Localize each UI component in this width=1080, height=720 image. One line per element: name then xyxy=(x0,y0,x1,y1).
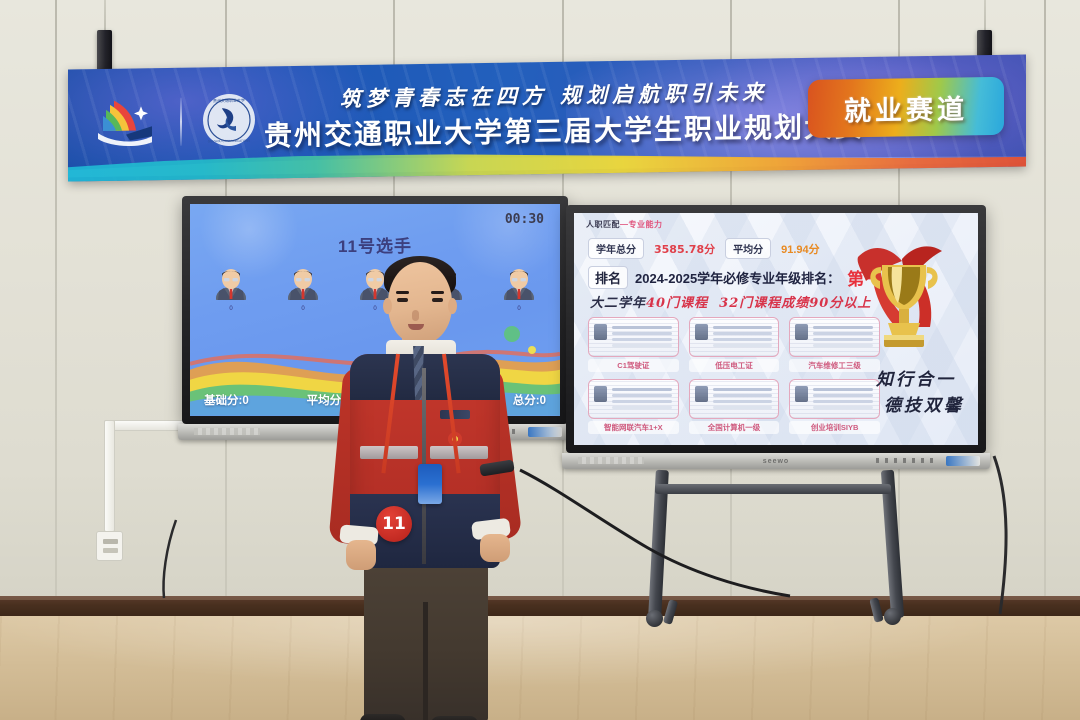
wall-seam xyxy=(55,0,57,600)
hand-right xyxy=(480,534,510,562)
cable-trunking-vertical xyxy=(104,420,115,532)
display-brand-right: seewo xyxy=(763,458,789,465)
certificate-thumbnail xyxy=(689,317,780,357)
baseboard-highlight xyxy=(0,596,1080,600)
svg-text:GUIZHOU COMMUNICATIONS: GUIZHOU COMMUNICATIONS xyxy=(208,139,250,144)
contestant-number-badge: 11 xyxy=(376,506,412,542)
floor-light-reflection xyxy=(0,616,1080,720)
year-total-value: 3585.78分 xyxy=(654,241,715,257)
courses-row: 大二学年40门课程 32门课程成绩90分以上 xyxy=(590,292,871,311)
shoe-left xyxy=(360,714,406,720)
wall-seam xyxy=(1044,0,1046,600)
track-badge: 就业赛道 xyxy=(808,77,1004,138)
right-display-screen[interactable]: 人职匹配—专业能力 学年总分 3585.78分 平均分 91.94分 排名 20… xyxy=(574,213,978,445)
shoe-right xyxy=(430,716,478,720)
right-display-chin: seewo xyxy=(562,453,990,469)
lanyard-id-card xyxy=(418,464,442,504)
certificate-label: 低压电工证 xyxy=(689,359,780,372)
contestant-title: 11号选手 xyxy=(190,232,560,257)
judge-score: 0 xyxy=(285,306,321,312)
countdown-timer: 00:30 xyxy=(505,212,544,227)
eye-left xyxy=(397,298,408,302)
stand-crossbar xyxy=(655,484,891,494)
track-badge-label: 就业赛道 xyxy=(844,87,968,128)
eye-right xyxy=(432,298,443,302)
certificate-card[interactable]: C1驾驶证 xyxy=(588,317,679,372)
certificate-card[interactable]: 创业培训SIYB xyxy=(789,379,880,434)
brand-logo-plate xyxy=(946,456,980,466)
judge-avatar[interactable]: 0 xyxy=(213,268,249,312)
eyebrow-left xyxy=(396,291,409,294)
ear-right xyxy=(448,298,457,314)
certificate-grid: C1驾驶证 低压电工证 汽车维修工三级 智能网联汽车1+X 全国计算机一级 xyxy=(588,317,880,434)
nose xyxy=(412,310,419,321)
certificate-label: 智能网联汽车1+X xyxy=(588,421,679,434)
rank-description: 2024-2025学年必修专业年级排名： xyxy=(635,268,840,287)
brand-logo-plate xyxy=(528,427,562,437)
certificate-card[interactable]: 低压电工证 xyxy=(689,317,780,372)
trouser-seam xyxy=(423,602,428,720)
certificate-label: 创业培训SIYB xyxy=(789,421,880,434)
led-indicators xyxy=(876,458,938,463)
wall-outlet[interactable] xyxy=(96,531,123,561)
courses-count: 40门课程 xyxy=(646,296,708,311)
judge-icon xyxy=(213,268,249,300)
calligraphy-motto: 知行合一 德技双馨 xyxy=(876,368,964,419)
port-strip xyxy=(194,428,260,435)
certificate-label: C1驾驶证 xyxy=(588,359,679,372)
hand-left xyxy=(346,540,376,570)
ear-left xyxy=(383,298,392,314)
stand-caster-right xyxy=(884,608,901,625)
logo-divider xyxy=(180,98,182,146)
certificate-card[interactable]: 全国计算机一级 xyxy=(689,379,780,434)
reflective-stripe-right xyxy=(430,446,488,459)
certificate-label: 全国计算机一级 xyxy=(689,421,780,434)
contestant-number: 11 xyxy=(382,514,406,534)
average-value: 91.94分 xyxy=(781,241,820,257)
gold-trophy-icon xyxy=(852,231,956,361)
year-total-label: 学年总分 xyxy=(588,238,644,259)
slide-header: 人职匹配—专业能力 xyxy=(586,219,663,230)
judge-icon xyxy=(285,268,321,300)
right-display-panel: 人职匹配—专业能力 学年总分 3585.78分 平均分 91.94分 排名 20… xyxy=(566,205,986,453)
certificate-thumbnail xyxy=(689,379,780,419)
calligraphy-line-1: 知行合一 xyxy=(876,368,964,394)
reflective-stripe-left xyxy=(360,446,418,459)
face xyxy=(388,262,452,344)
certificate-card[interactable]: 智能网联汽车1+X xyxy=(588,379,679,434)
jacket-brand-tag xyxy=(440,410,470,419)
calligraphy-line-2: 德技双馨 xyxy=(876,394,964,420)
base-score: 基础分:0 xyxy=(204,395,249,407)
certificate-thumbnail xyxy=(588,317,679,357)
svg-text:贵州交通职业大学: 贵州交通职业大学 xyxy=(213,97,245,104)
slide-header-pink: 专业能力 xyxy=(629,220,663,229)
university-seal-icon: 贵州交通职业大学 GUIZHOU COMMUNICATIONS xyxy=(202,93,256,148)
slide-header-dash: — xyxy=(620,220,629,229)
average-label: 平均分 xyxy=(725,238,771,259)
competition-banner: 贵州交通职业大学 GUIZHOU COMMUNICATIONS 筑梦青春志在四方… xyxy=(68,54,1026,181)
courses-pass: 32门课程成绩90分以上 xyxy=(719,296,871,311)
sail-emblem-icon xyxy=(96,96,154,149)
decor-dot-yellow xyxy=(528,346,536,354)
eyebrow-right xyxy=(431,291,444,294)
slide-header-dark: 人职匹配 xyxy=(586,220,620,229)
courses-prefix: 大二学年 xyxy=(590,296,646,311)
judge-score: 0 xyxy=(213,306,249,312)
certificate-thumbnail xyxy=(588,379,679,419)
certificate-thumbnail xyxy=(789,379,880,419)
stand-caster-left xyxy=(646,610,663,627)
judge-avatar[interactable]: 0 xyxy=(285,268,321,312)
rank-label: 排名 xyxy=(588,266,628,289)
port-strip xyxy=(578,457,644,464)
competition-room-scene: 贵州交通职业大学 GUIZHOU COMMUNICATIONS 筑梦青春志在四方… xyxy=(0,0,1080,720)
contestant-presenter: 11 xyxy=(330,258,520,720)
score-summary-row: 学年总分 3585.78分 平均分 91.94分 xyxy=(588,238,820,259)
